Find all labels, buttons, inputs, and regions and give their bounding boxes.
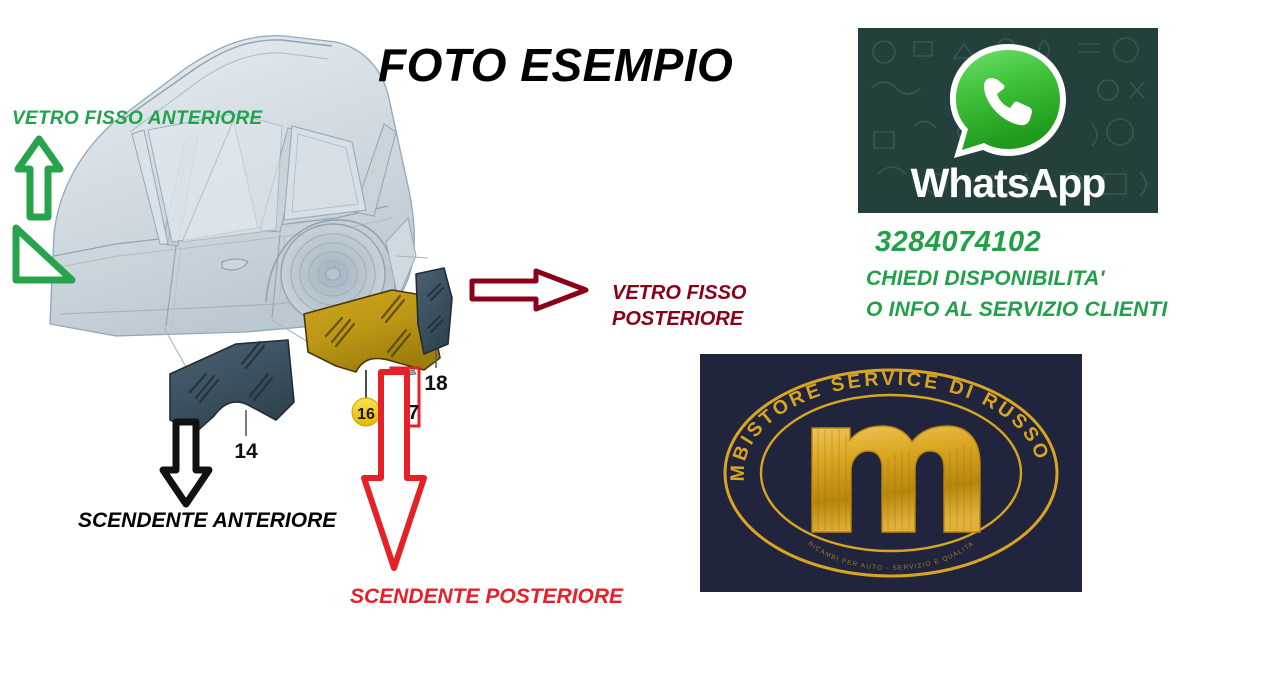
whatsapp-phone-icon <box>946 40 1070 167</box>
part-number-14: 14 <box>234 440 258 463</box>
label-vetro-fisso-anteriore: VETRO FISSO ANTERIORE <box>12 108 263 130</box>
whatsapp-wordmark: WhatsApp <box>858 160 1158 207</box>
arrow-down-icon-black <box>158 418 214 513</box>
page-title: FOTO ESEMPIO <box>378 38 733 92</box>
label-vetro-fisso-posteriore: VETRO FISSO POSTERIORE <box>612 281 746 332</box>
whatsapp-banner: WhatsApp <box>858 28 1158 213</box>
label-scendente-anteriore: SCENDENTE ANTERIORE <box>78 509 336 533</box>
car-body-outline <box>50 36 416 336</box>
logo-monogram <box>812 426 980 532</box>
contact-line-availability: CHIEDI DISPONIBILITA' <box>866 267 1105 291</box>
triangle-marker-icon-green <box>6 222 78 293</box>
arrow-down-icon-red <box>358 368 430 579</box>
shop-logo-plate: MRICAMBISTORE SERVICE DI RUSSO MARCO RIC… <box>700 354 1082 592</box>
contact-phone-number: 3284074102 <box>875 226 1041 259</box>
arrow-right-icon-darkred <box>468 268 590 317</box>
contact-line-customer-service: O INFO AL SERVIZIO CLIENTI <box>866 298 1168 322</box>
arrow-up-icon-green <box>14 135 64 226</box>
label-scendente-posteriore: SCENDENTE POSTERIORE <box>350 585 623 609</box>
